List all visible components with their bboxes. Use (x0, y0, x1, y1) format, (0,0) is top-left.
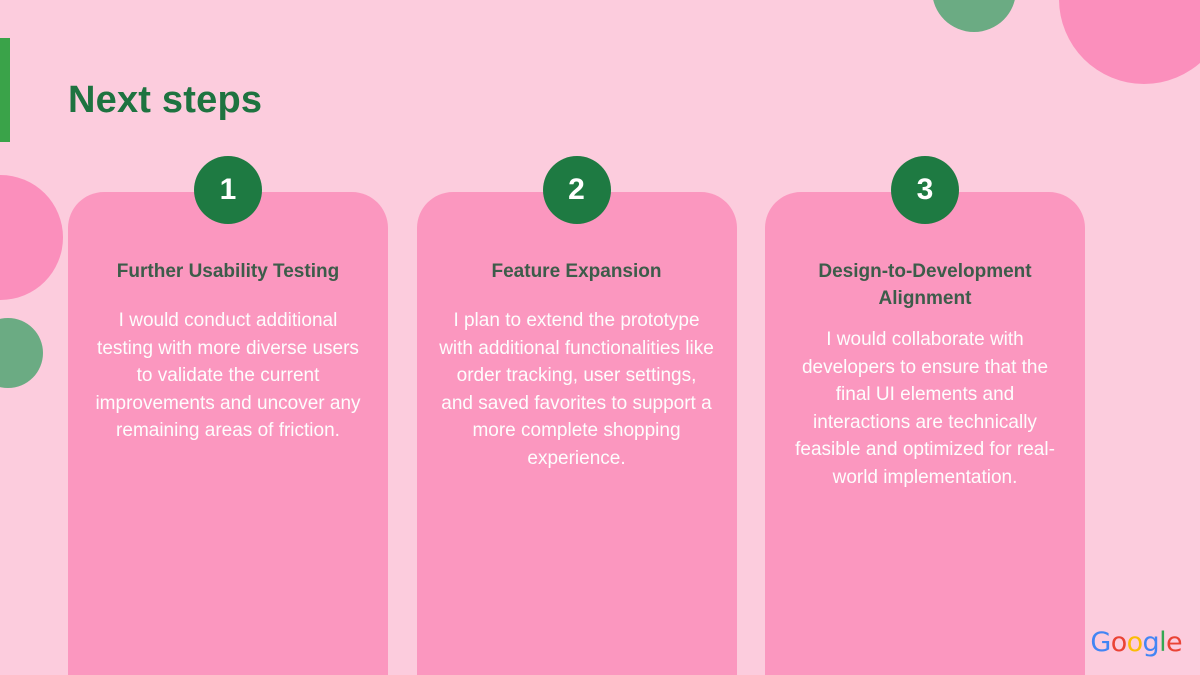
google-logo: Google (1090, 629, 1182, 656)
next-step-card-2: 2 Feature Expansion I plan to extend the… (417, 192, 737, 675)
google-logo-letter-o2: o (1127, 627, 1143, 658)
card-body-1: I would conduct additional testing with … (90, 307, 366, 445)
slide-canvas: Next steps 1 Further Usability Testing I… (0, 0, 1200, 675)
card-body-3: I would collaborate with developers to e… (787, 326, 1063, 491)
next-step-card-1: 1 Further Usability Testing I would cond… (68, 192, 388, 675)
decorative-circle-pink-left (0, 175, 63, 300)
google-logo-letter-o1: o (1111, 627, 1127, 658)
next-steps-card-list: 1 Further Usability Testing I would cond… (68, 192, 1085, 675)
next-step-card-3: 3 Design-to-Development Alignment I woul… (765, 192, 1085, 675)
step-number-badge-3: 3 (891, 156, 959, 224)
decorative-circle-green-left (0, 318, 43, 388)
google-logo-letter-e: e (1166, 627, 1182, 658)
decorative-circle-pink-top-right (1059, 0, 1200, 84)
decorative-circle-green-top-right (932, 0, 1016, 32)
google-logo-letter-l: l (1159, 627, 1166, 658)
step-number-badge-2: 2 (543, 156, 611, 224)
card-body-2: I plan to extend the prototype with addi… (439, 307, 715, 472)
google-logo-letter-g2: g (1143, 627, 1160, 658)
page-title: Next steps (68, 78, 262, 122)
step-number-badge-1: 1 (194, 156, 262, 224)
card-heading-1: Further Usability Testing (90, 258, 366, 285)
green-accent-bar (0, 38, 10, 142)
google-logo-letter-g1: G (1090, 627, 1110, 658)
card-heading-3: Design-to-Development Alignment (787, 258, 1063, 312)
card-heading-2: Feature Expansion (439, 258, 715, 285)
